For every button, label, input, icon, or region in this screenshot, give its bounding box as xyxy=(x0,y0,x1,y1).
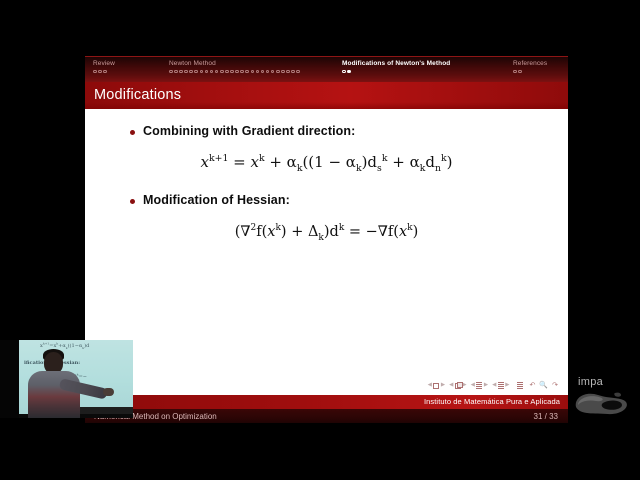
bullet-label: Modification of Hessian: xyxy=(143,193,290,207)
nav-dot[interactable] xyxy=(296,70,300,74)
nav-dot[interactable] xyxy=(179,70,183,74)
nav-dot[interactable] xyxy=(225,70,229,74)
nav-section-label: References xyxy=(513,59,547,68)
webcam-dark-margin xyxy=(0,340,19,418)
list-item: Modification of Hessian: xyxy=(130,193,290,207)
nav-dot[interactable] xyxy=(266,70,270,74)
search-icon[interactable]: 🔍 xyxy=(539,382,548,389)
slide-footer-bar: Numerical Method on Optimization 31 / 33 xyxy=(85,409,568,423)
equation-gradient-combination: xk+1 = xk + αk((1 − αk)dsk + αkdnk) xyxy=(85,153,568,171)
nav-dot[interactable] xyxy=(342,70,346,74)
nav-dot[interactable] xyxy=(174,70,178,74)
nav-dot[interactable] xyxy=(276,70,280,74)
equation-hessian-modification: (∇2f(xk) + Δk)dk = −∇f(xk) xyxy=(85,224,568,240)
nav-dot-current[interactable] xyxy=(347,70,351,74)
bullet-point-icon xyxy=(130,130,135,135)
nav-dot[interactable] xyxy=(235,70,239,74)
nav-dot[interactable] xyxy=(184,70,188,74)
nav-dot[interactable] xyxy=(169,70,173,74)
nav-dot[interactable] xyxy=(98,70,102,74)
impa-wordmark: impa xyxy=(578,376,603,388)
beamer-navigation-bar: Review Newton Method xyxy=(85,56,568,82)
nav-section-newton-method[interactable]: Newton Method xyxy=(169,59,300,73)
nav-section-dots[interactable] xyxy=(342,70,450,74)
nav-dot[interactable] xyxy=(518,70,522,74)
nav-dot[interactable] xyxy=(271,70,275,74)
nav-dot[interactable] xyxy=(251,70,255,74)
slide-icon[interactable] xyxy=(433,383,439,389)
section-icon[interactable] xyxy=(498,382,504,389)
previous-subsection-icon[interactable]: ◀ xyxy=(471,383,475,389)
nav-dot[interactable] xyxy=(189,70,193,74)
nav-dot[interactable] xyxy=(103,70,107,74)
nav-dot[interactable] xyxy=(281,70,285,74)
institute-name: Instituto de Matemática Pura e Aplicada xyxy=(424,397,560,406)
nav-dot[interactable] xyxy=(205,70,209,74)
section-navigation-group[interactable]: ◀ ▶ xyxy=(492,382,509,389)
next-section-icon[interactable]: ▶ xyxy=(505,383,509,389)
page-number: 31 / 33 xyxy=(534,412,558,421)
slide-footer-institute-band: Instituto de Matemática Pura e Aplicada xyxy=(85,394,568,409)
subsection-icon[interactable] xyxy=(476,382,482,389)
nav-dot[interactable] xyxy=(210,70,214,74)
document-icon[interactable] xyxy=(517,382,523,389)
frame-icon[interactable] xyxy=(455,383,461,389)
nav-dot[interactable] xyxy=(220,70,224,74)
beamer-navigation-symbols[interactable]: ◀ ▶ ◀ ▶ ◀ ▶ ◀ ▶ xyxy=(428,382,558,389)
back-icon[interactable]: ↶ xyxy=(530,382,536,389)
impa-mobius-mark xyxy=(572,388,632,418)
presenter-body xyxy=(28,371,80,418)
nav-section-dots[interactable] xyxy=(169,70,300,74)
previous-slide-icon[interactable]: ◀ xyxy=(428,383,432,389)
frame-navigation-group[interactable]: ◀ ▶ xyxy=(449,383,466,389)
nav-dot[interactable] xyxy=(215,70,219,74)
video-letterbox-background: Review Newton Method xyxy=(0,0,640,480)
nav-dot[interactable] xyxy=(513,70,517,74)
nav-section-dots[interactable] xyxy=(93,70,115,74)
nav-section-review[interactable]: Review xyxy=(93,59,115,73)
slide-navigation-group[interactable]: ◀ ▶ xyxy=(428,383,445,389)
nav-dot[interactable] xyxy=(286,70,290,74)
bullet-label: Combining with Gradient direction: xyxy=(143,124,355,138)
nav-section-modifications-of-newtons-method[interactable]: Modifications of Newton's Method xyxy=(342,59,450,73)
nav-section-dots[interactable] xyxy=(513,70,547,74)
previous-frame-icon[interactable]: ◀ xyxy=(449,383,453,389)
nav-section-label: Review xyxy=(93,59,115,68)
nav-dot[interactable] xyxy=(200,70,204,74)
next-subsection-icon[interactable]: ▶ xyxy=(484,383,488,389)
nav-dot[interactable] xyxy=(230,70,234,74)
presentation-slide: Review Newton Method xyxy=(85,56,568,423)
forward-icon[interactable]: ↷ xyxy=(552,382,558,389)
nav-dot[interactable] xyxy=(240,70,244,74)
next-slide-icon[interactable]: ▶ xyxy=(441,383,445,389)
nav-section-label: Modifications of Newton's Method xyxy=(342,59,450,68)
nav-dot[interactable] xyxy=(245,70,249,74)
nav-dot[interactable] xyxy=(261,70,265,74)
presenter-hand xyxy=(103,388,114,396)
list-item: Combining with Gradient direction: xyxy=(130,124,355,138)
webcam-overlay: xk+1=xk+αk((1−αk)d ification of Hessian:… xyxy=(0,340,133,418)
subsection-navigation-group[interactable]: ◀ ▶ xyxy=(471,382,488,389)
nav-dot[interactable] xyxy=(291,70,295,74)
bullet-point-icon xyxy=(130,199,135,204)
previous-section-icon[interactable]: ◀ xyxy=(492,383,496,389)
impa-logo: impa xyxy=(570,376,636,418)
nav-dot[interactable] xyxy=(93,70,97,74)
nav-dot[interactable] xyxy=(194,70,198,74)
webcam-formula-line-1: xk+1=xk+αk((1−αk)d xyxy=(40,343,89,349)
slide-content-area: Combining with Gradient direction: xk+1 … xyxy=(85,111,568,394)
nav-section-references[interactable]: References xyxy=(513,59,547,73)
nav-dot[interactable] xyxy=(256,70,260,74)
nav-section-label: Newton Method xyxy=(169,59,300,68)
page-title: Modifications xyxy=(94,87,181,103)
slide-title-bar: Modifications xyxy=(85,82,568,111)
